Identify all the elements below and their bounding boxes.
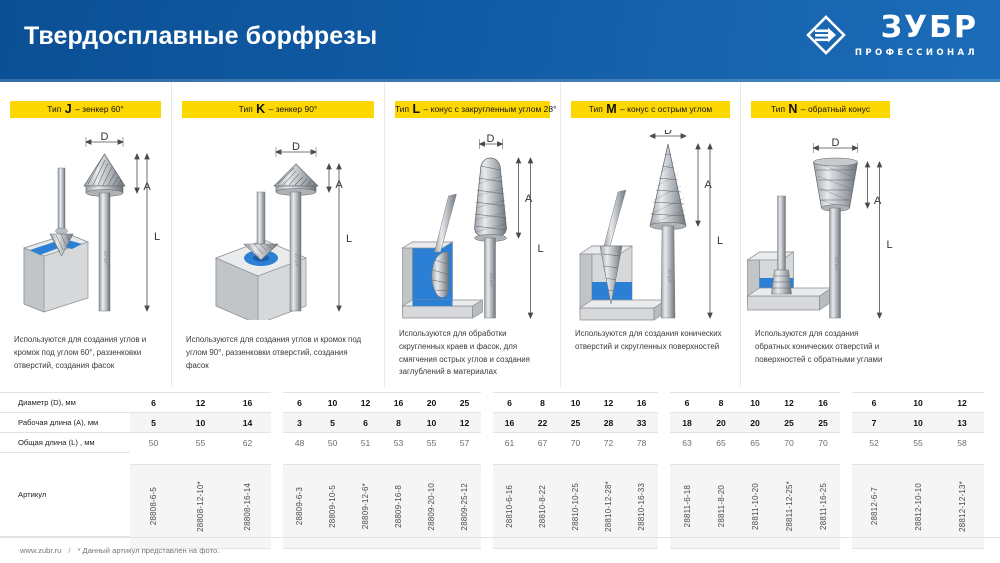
footer-website[interactable]: www.zubr.ru xyxy=(20,546,61,555)
cell-article: 28810-12-28* xyxy=(604,481,613,532)
table-group-k: 6 3 48 28809-6-3 10 5 50 28809-10-5 12 6… xyxy=(283,392,481,537)
cell-article: 28809-20-10 xyxy=(427,483,436,531)
cell-article: 28811-12-25* xyxy=(785,481,794,531)
cell-total-length: 63 xyxy=(670,432,704,452)
cell-diameter: 16 xyxy=(625,392,658,412)
dimension-label-l-m: L xyxy=(716,235,722,247)
tab-k-suffix: – зенкер 90° xyxy=(266,104,317,114)
dimension-l-l xyxy=(528,158,532,318)
dimension-label-a-m: A xyxy=(704,179,712,191)
svg-text:ЗУБР: ЗУБР xyxy=(294,252,300,267)
cell-working-length: 33 xyxy=(625,412,658,432)
cell-article: 28808-16-14 xyxy=(243,483,252,531)
cell-total-length: 70 xyxy=(559,432,592,452)
tab-type-j[interactable]: Тип J – зенкер 60° xyxy=(10,101,161,118)
cell-diameter: 6 xyxy=(670,392,704,412)
table-column: 6 3 48 28809-6-3 xyxy=(283,392,316,537)
tab-l-suffix: – конус с закругленным углом 28° xyxy=(421,104,556,114)
table-group-n: 6 7 52 28812-6-7 10 10 55 28812-10-10 12… xyxy=(852,392,984,537)
cell-working-length: 5 xyxy=(316,412,349,432)
table-column: 10 10 55 28812-10-10 xyxy=(896,392,940,537)
table-column: 10 20 65 28811-10-20 xyxy=(738,392,772,537)
tab-n-letter: N xyxy=(787,102,798,116)
cell-total-length: 50 xyxy=(316,432,349,452)
tab-n-prefix: Тип xyxy=(771,104,788,114)
cell-diameter: 16 xyxy=(806,392,840,412)
svg-text:ЗУБР: ЗУБР xyxy=(102,250,108,265)
illustration-type-m: ЗУБР D A xyxy=(561,130,740,326)
dimension-l-n xyxy=(877,162,881,318)
cell-diameter: 10 xyxy=(316,392,349,412)
table-column: 16 33 78 28810-16-33 xyxy=(625,392,658,537)
cell-working-length: 18 xyxy=(670,412,704,432)
table-column: 16 25 70 28811-16-25 xyxy=(806,392,840,537)
cell-working-length: 10 xyxy=(415,412,448,432)
cell-total-length: 58 xyxy=(940,432,984,452)
table-group-gap xyxy=(840,392,852,537)
table-column: 20 10 55 28809-20-10 xyxy=(415,392,448,537)
cell-article: 28808-6-5 xyxy=(149,487,158,525)
table-column: 10 25 70 28810-10-25 xyxy=(559,392,592,537)
table-group-l: 6 16 61 28810-6-16 8 22 67 28810-8-22 10… xyxy=(493,392,658,537)
cell-diameter: 12 xyxy=(592,392,625,412)
table-column: 12 6 51 28809-12-6* xyxy=(349,392,382,537)
cell-total-length: 72 xyxy=(592,432,625,452)
table-column: 8 20 65 28811-8-20 xyxy=(704,392,738,537)
tab-n-suffix: – обратный конус xyxy=(799,104,871,114)
cell-working-length: 10 xyxy=(896,412,940,432)
cell-diameter: 20 xyxy=(415,392,448,412)
cell-diameter: 25 xyxy=(448,392,481,412)
cell-total-length: 53 xyxy=(382,432,415,452)
table-group-gap xyxy=(658,392,670,537)
row-label-diameter: Диаметр (D), мм xyxy=(0,392,130,412)
cell-working-length: 16 xyxy=(493,412,526,432)
footer-note: * Данный артикул представлен на фото. xyxy=(77,546,219,555)
cell-working-length: 25 xyxy=(806,412,840,432)
cell-diameter: 6 xyxy=(493,392,526,412)
table-group-j: 6 5 50 28808-6-5 12 10 55 28808-12-10* 1… xyxy=(130,392,271,537)
cell-diameter: 6 xyxy=(852,392,896,412)
description-type-m: Используются для создания конических отв… xyxy=(561,328,740,354)
cell-working-length: 25 xyxy=(559,412,592,432)
table-column: 10 5 50 28809-10-5 xyxy=(316,392,349,537)
description-type-j: Используются для создания углов и кромок… xyxy=(0,334,171,372)
page-header: Твердосплавные борфрезы ЗУБР ПРОФЕССИОНА… xyxy=(0,0,1000,82)
cell-diameter: 10 xyxy=(738,392,772,412)
cell-article: 28811-8-20 xyxy=(717,485,726,527)
illustration-type-k: ЗУБР D A xyxy=(172,130,384,326)
cell-working-length: 25 xyxy=(772,412,806,432)
svg-text:ЗУБР: ЗУБР xyxy=(488,272,494,287)
zubr-diamond-icon xyxy=(806,15,846,60)
cell-article: 28812-6-7 xyxy=(870,487,879,525)
cell-diameter: 16 xyxy=(382,392,415,412)
row-label-working-length: Рабочая длина (A), мм xyxy=(0,412,130,432)
svg-text:ЗУБР: ЗУБР xyxy=(833,256,839,271)
dimension-label-d-k: D xyxy=(292,141,300,153)
page-title: Твердосплавные борфрезы xyxy=(24,22,377,51)
cell-article: 28809-12-6* xyxy=(361,483,370,529)
product-column-j: Тип J – зенкер 60° xyxy=(0,82,172,387)
product-column-n: Тип N – обратный конус xyxy=(741,82,900,387)
dimension-label-a-n: A xyxy=(873,195,881,207)
illustration-type-l: ЗУБР D A xyxy=(385,130,560,326)
cell-working-length: 8 xyxy=(382,412,415,432)
burr-l: ЗУБР xyxy=(474,158,506,318)
description-type-n: Используются для создания обратных конич… xyxy=(741,328,900,366)
cell-working-length: 28 xyxy=(592,412,625,432)
cell-article: 28812-12-13* xyxy=(958,481,967,532)
cell-total-length: 48 xyxy=(283,432,316,452)
cell-total-length: 65 xyxy=(704,432,738,452)
dimension-label-d-n: D xyxy=(831,137,839,149)
tab-j-prefix: Тип xyxy=(47,104,64,114)
tab-k-prefix: Тип xyxy=(239,104,256,114)
cell-working-length: 13 xyxy=(940,412,984,432)
cell-total-length: 55 xyxy=(177,432,224,452)
table-column: 12 13 58 28812-12-13* xyxy=(940,392,984,537)
cell-article: 28809-16-8 xyxy=(394,485,403,528)
tab-m-letter: M xyxy=(605,102,617,116)
cell-working-length: 6 xyxy=(349,412,382,432)
cell-article: 28809-25-12 xyxy=(460,483,469,531)
dimension-label-d-j: D xyxy=(100,131,108,143)
dimension-label-l-k: L xyxy=(346,233,352,245)
illustration-type-n: ЗУБР D A xyxy=(741,130,900,326)
cell-total-length: 55 xyxy=(896,432,940,452)
table-column: 6 18 63 28811-6-18 xyxy=(670,392,704,537)
cell-working-length: 12 xyxy=(448,412,481,432)
cell-article: 28809-6-3 xyxy=(295,487,304,525)
cell-total-length: 51 xyxy=(349,432,382,452)
tab-type-l[interactable]: Тип L – конус с закругленным углом 28° xyxy=(395,101,550,118)
table-column: 12 25 70 28811-12-25* xyxy=(772,392,806,537)
brand-tagline: ПРОФЕССИОНАЛ xyxy=(855,48,978,58)
datasheet-page: Твердосплавные борфрезы ЗУБР ПРОФЕССИОНА… xyxy=(0,0,1000,563)
cell-working-length: 3 xyxy=(283,412,316,432)
cell-diameter: 16 xyxy=(224,392,271,412)
dimension-label-l-l: L xyxy=(537,243,543,255)
cell-working-length: 5 xyxy=(130,412,177,432)
footer-separator: / xyxy=(68,546,70,555)
tab-type-k[interactable]: Тип K – зенкер 90° xyxy=(182,101,374,118)
cell-working-length: 7 xyxy=(852,412,896,432)
table-column: 6 16 61 28810-6-16 xyxy=(493,392,526,537)
workpiece-m xyxy=(580,246,666,320)
cell-total-length: 65 xyxy=(738,432,772,452)
cell-total-length: 61 xyxy=(493,432,526,452)
product-column-l: Тип L – конус с закругленным углом 28° xyxy=(385,82,561,387)
tab-m-suffix: – конус с острым углом xyxy=(618,104,713,114)
cell-diameter: 8 xyxy=(526,392,559,412)
table-column: 12 10 55 28808-12-10* xyxy=(177,392,224,537)
brand-name: ЗУБР xyxy=(881,13,978,43)
dimension-label-l-n: L xyxy=(886,239,892,251)
cell-article: 28810-10-25 xyxy=(571,483,580,531)
table-column: 6 5 50 28808-6-5 xyxy=(130,392,177,537)
illustration-type-j: ЗУБР D xyxy=(0,130,171,326)
product-type-columns: Тип J – зенкер 60° xyxy=(0,82,1000,387)
description-type-k: Используются для создания углов и кромок… xyxy=(172,334,384,372)
tab-j-suffix: – зенкер 60° xyxy=(73,104,124,114)
cell-total-length: 70 xyxy=(806,432,840,452)
row-label-total-length: Общая длина (L) , мм xyxy=(0,432,130,452)
cell-total-length: 57 xyxy=(448,432,481,452)
specification-table: Диаметр (D), мм Рабочая длина (A), мм Об… xyxy=(0,392,1000,537)
table-row-labels: Диаметр (D), мм Рабочая длина (A), мм Об… xyxy=(0,392,130,537)
dimension-label-a-l: A xyxy=(524,193,532,205)
tab-l-prefix: Тип xyxy=(395,104,412,114)
cell-article: 28812-10-10 xyxy=(914,483,923,531)
table-column: 8 22 67 28810-8-22 xyxy=(526,392,559,537)
cell-diameter: 6 xyxy=(283,392,316,412)
tab-type-n[interactable]: Тип N – обратный конус xyxy=(751,101,890,118)
cell-working-length: 10 xyxy=(177,412,224,432)
description-type-l: Используются для обработки скругленных к… xyxy=(385,328,560,379)
tool-in-workpiece-n xyxy=(771,196,791,294)
cell-article: 28810-6-16 xyxy=(505,485,514,528)
cell-diameter: 12 xyxy=(177,392,224,412)
tab-m-prefix: Тип xyxy=(589,104,606,114)
cell-total-length: 67 xyxy=(526,432,559,452)
cell-diameter: 8 xyxy=(704,392,738,412)
tab-type-m[interactable]: Тип M – конус с острым углом xyxy=(571,101,730,118)
brand-logo: ЗУБР ПРОФЕССИОНАЛ xyxy=(806,13,978,60)
cell-working-length: 22 xyxy=(526,412,559,432)
burr-m: ЗУБР xyxy=(650,144,686,318)
cell-total-length: 78 xyxy=(625,432,658,452)
row-label-article: Артикул xyxy=(0,452,130,537)
cell-diameter: 10 xyxy=(896,392,940,412)
cell-diameter: 12 xyxy=(772,392,806,412)
cell-total-length: 52 xyxy=(852,432,896,452)
svg-text:ЗУБР: ЗУБР xyxy=(666,268,672,283)
table-column: 16 8 53 28809-16-8 xyxy=(382,392,415,537)
tab-l-letter: L xyxy=(412,102,422,116)
page-footer: www.zubr.ru / * Данный артикул представл… xyxy=(0,537,1000,563)
dimension-label-d-l: D xyxy=(486,133,494,145)
dimension-a-k xyxy=(327,164,331,192)
dimension-a-n xyxy=(865,162,869,208)
dimension-l-j xyxy=(144,154,148,311)
burr-j: ЗУБР xyxy=(84,154,125,311)
table-column: 6 7 52 28812-6-7 xyxy=(852,392,896,537)
table-group-gap xyxy=(481,392,493,537)
tab-j-letter: J xyxy=(64,102,73,116)
cell-working-length: 20 xyxy=(738,412,772,432)
dimension-label-l-j: L xyxy=(153,231,159,243)
cell-article: 28811-16-25 xyxy=(819,483,828,530)
table-column: 16 14 62 28808-16-14 xyxy=(224,392,271,537)
cell-diameter: 12 xyxy=(940,392,984,412)
table-column: 25 12 57 28809-25-12 xyxy=(448,392,481,537)
cell-diameter: 10 xyxy=(559,392,592,412)
cell-diameter: 12 xyxy=(349,392,382,412)
table-column: 12 28 72 28810-12-28* xyxy=(592,392,625,537)
cell-article: 28810-8-22 xyxy=(538,485,547,528)
cell-total-length: 50 xyxy=(130,432,177,452)
dimension-a-l xyxy=(516,158,520,238)
tab-k-letter: K xyxy=(255,102,266,116)
table-group-gap xyxy=(271,392,283,537)
brand-text: ЗУБР ПРОФЕССИОНАЛ xyxy=(855,13,978,58)
cell-working-length: 20 xyxy=(704,412,738,432)
cell-total-length: 70 xyxy=(772,432,806,452)
dimension-a-m xyxy=(695,144,699,226)
product-column-k: Тип K – зенкер 90° xyxy=(172,82,385,387)
cell-diameter: 6 xyxy=(130,392,177,412)
cell-article: 28811-6-18 xyxy=(683,485,692,527)
table-group-m: 6 18 63 28811-6-18 8 20 65 28811-8-20 10… xyxy=(670,392,840,537)
cell-article: 28808-12-10* xyxy=(196,481,205,532)
cell-article: 28810-16-33 xyxy=(637,483,646,531)
dimension-l-m xyxy=(707,144,711,318)
cell-article: 28809-10-5 xyxy=(328,485,337,528)
cell-total-length: 55 xyxy=(415,432,448,452)
cell-working-length: 14 xyxy=(224,412,271,432)
product-column-m: Тип M – конус с острым углом xyxy=(561,82,741,387)
cell-article: 28811-10-20 xyxy=(751,483,760,530)
dimension-a-j xyxy=(134,154,138,193)
dimension-label-d-m: D xyxy=(664,130,672,137)
cell-total-length: 62 xyxy=(224,432,271,452)
